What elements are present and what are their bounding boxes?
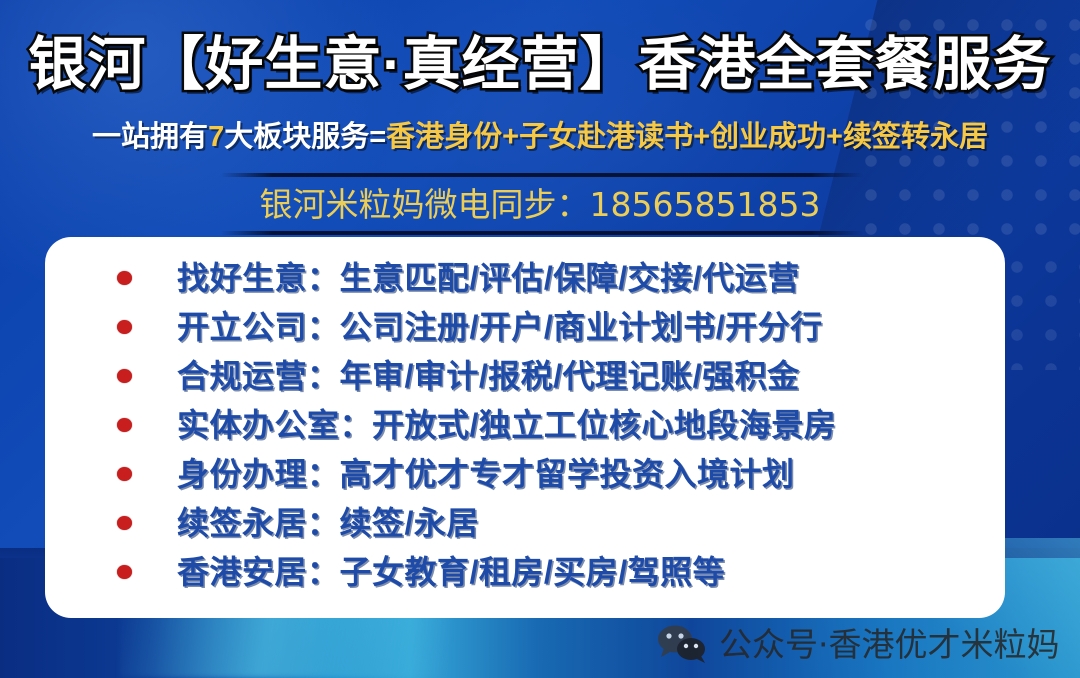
- footer-label: 公众号·香港优才米粒妈: [719, 628, 1060, 661]
- service-label: 实体办公室：开放式/独立工位核心地段海景房: [177, 409, 836, 441]
- service-label: 身份办理：高才优才专才留学投资入境计划: [177, 458, 795, 490]
- service-item: 开立公司：公司注册/开户/商业计划书/开分行: [117, 302, 985, 351]
- service-item: 找好生意：生意匹配/评估/保障/交接/代运营: [117, 253, 985, 302]
- service-list: 找好生意：生意匹配/评估/保障/交接/代运营 开立公司：公司注册/开户/商业计划…: [117, 253, 985, 596]
- poster-title: 银河【好生意·真经营】香港全套餐服务: [0, 36, 1080, 94]
- background-dot-pattern-lower: [1000, 250, 1080, 370]
- service-label: 续签永居：续签/永居: [177, 507, 479, 539]
- service-label: 找好生意：生意匹配/评估/保障/交接/代运营: [177, 262, 800, 294]
- service-label: 香港安居：子女教育/租房/买房/驾照等: [177, 556, 725, 588]
- subtitle-part-two: 大板块服务=: [224, 121, 386, 153]
- bullet-icon: [117, 516, 132, 530]
- poster-header: 银河【好生意·真经营】香港全套餐服务 一站拥有7大板块服务=香港身份+子女赴港读…: [0, 0, 1080, 237]
- service-item: 香港安居：子女教育/租房/买房/驾照等: [117, 547, 985, 596]
- bullet-icon: [117, 271, 132, 285]
- subtitle-part-one: 一站拥有: [92, 121, 208, 153]
- service-item: 实体办公室：开放式/独立工位核心地段海景房: [117, 400, 985, 449]
- divider-below-contact: [221, 231, 863, 235]
- poster-subtitle: 一站拥有7大板块服务=香港身份+子女赴港读书+创业成功+续签转永居: [0, 123, 1080, 152]
- bullet-icon: [117, 369, 132, 383]
- promotional-poster: 银河【好生意·真经营】香港全套餐服务 一站拥有7大板块服务=香港身份+子女赴港读…: [0, 0, 1080, 678]
- wechat-icon: [655, 624, 713, 664]
- divider-above-contact: [221, 173, 863, 177]
- bullet-icon: [117, 565, 132, 579]
- service-label: 合规运营：年审/审计/报税/代理记账/强积金: [177, 360, 800, 392]
- subtitle-part-three: 香港身份+子女赴港读书+创业成功+续签转永居: [386, 121, 988, 153]
- service-item: 身份办理：高才优才专才留学投资入境计划: [117, 449, 985, 498]
- subtitle-highlight-number: 7: [208, 121, 224, 153]
- bullet-icon: [117, 418, 132, 432]
- bullet-icon: [117, 320, 132, 334]
- service-label: 开立公司：公司注册/开户/商业计划书/开分行: [177, 311, 823, 343]
- footer-watermark: 公众号·香港优才米粒妈: [655, 624, 1060, 664]
- service-item: 续签永居：续签/永居: [117, 498, 985, 547]
- contact-line: 银河米粒妈微电同步：18565851853: [0, 185, 1080, 225]
- service-item: 合规运营：年审/审计/报税/代理记账/强积金: [117, 351, 985, 400]
- service-card: 找好生意：生意匹配/评估/保障/交接/代运营 开立公司：公司注册/开户/商业计划…: [45, 237, 1005, 618]
- bullet-icon: [117, 467, 132, 481]
